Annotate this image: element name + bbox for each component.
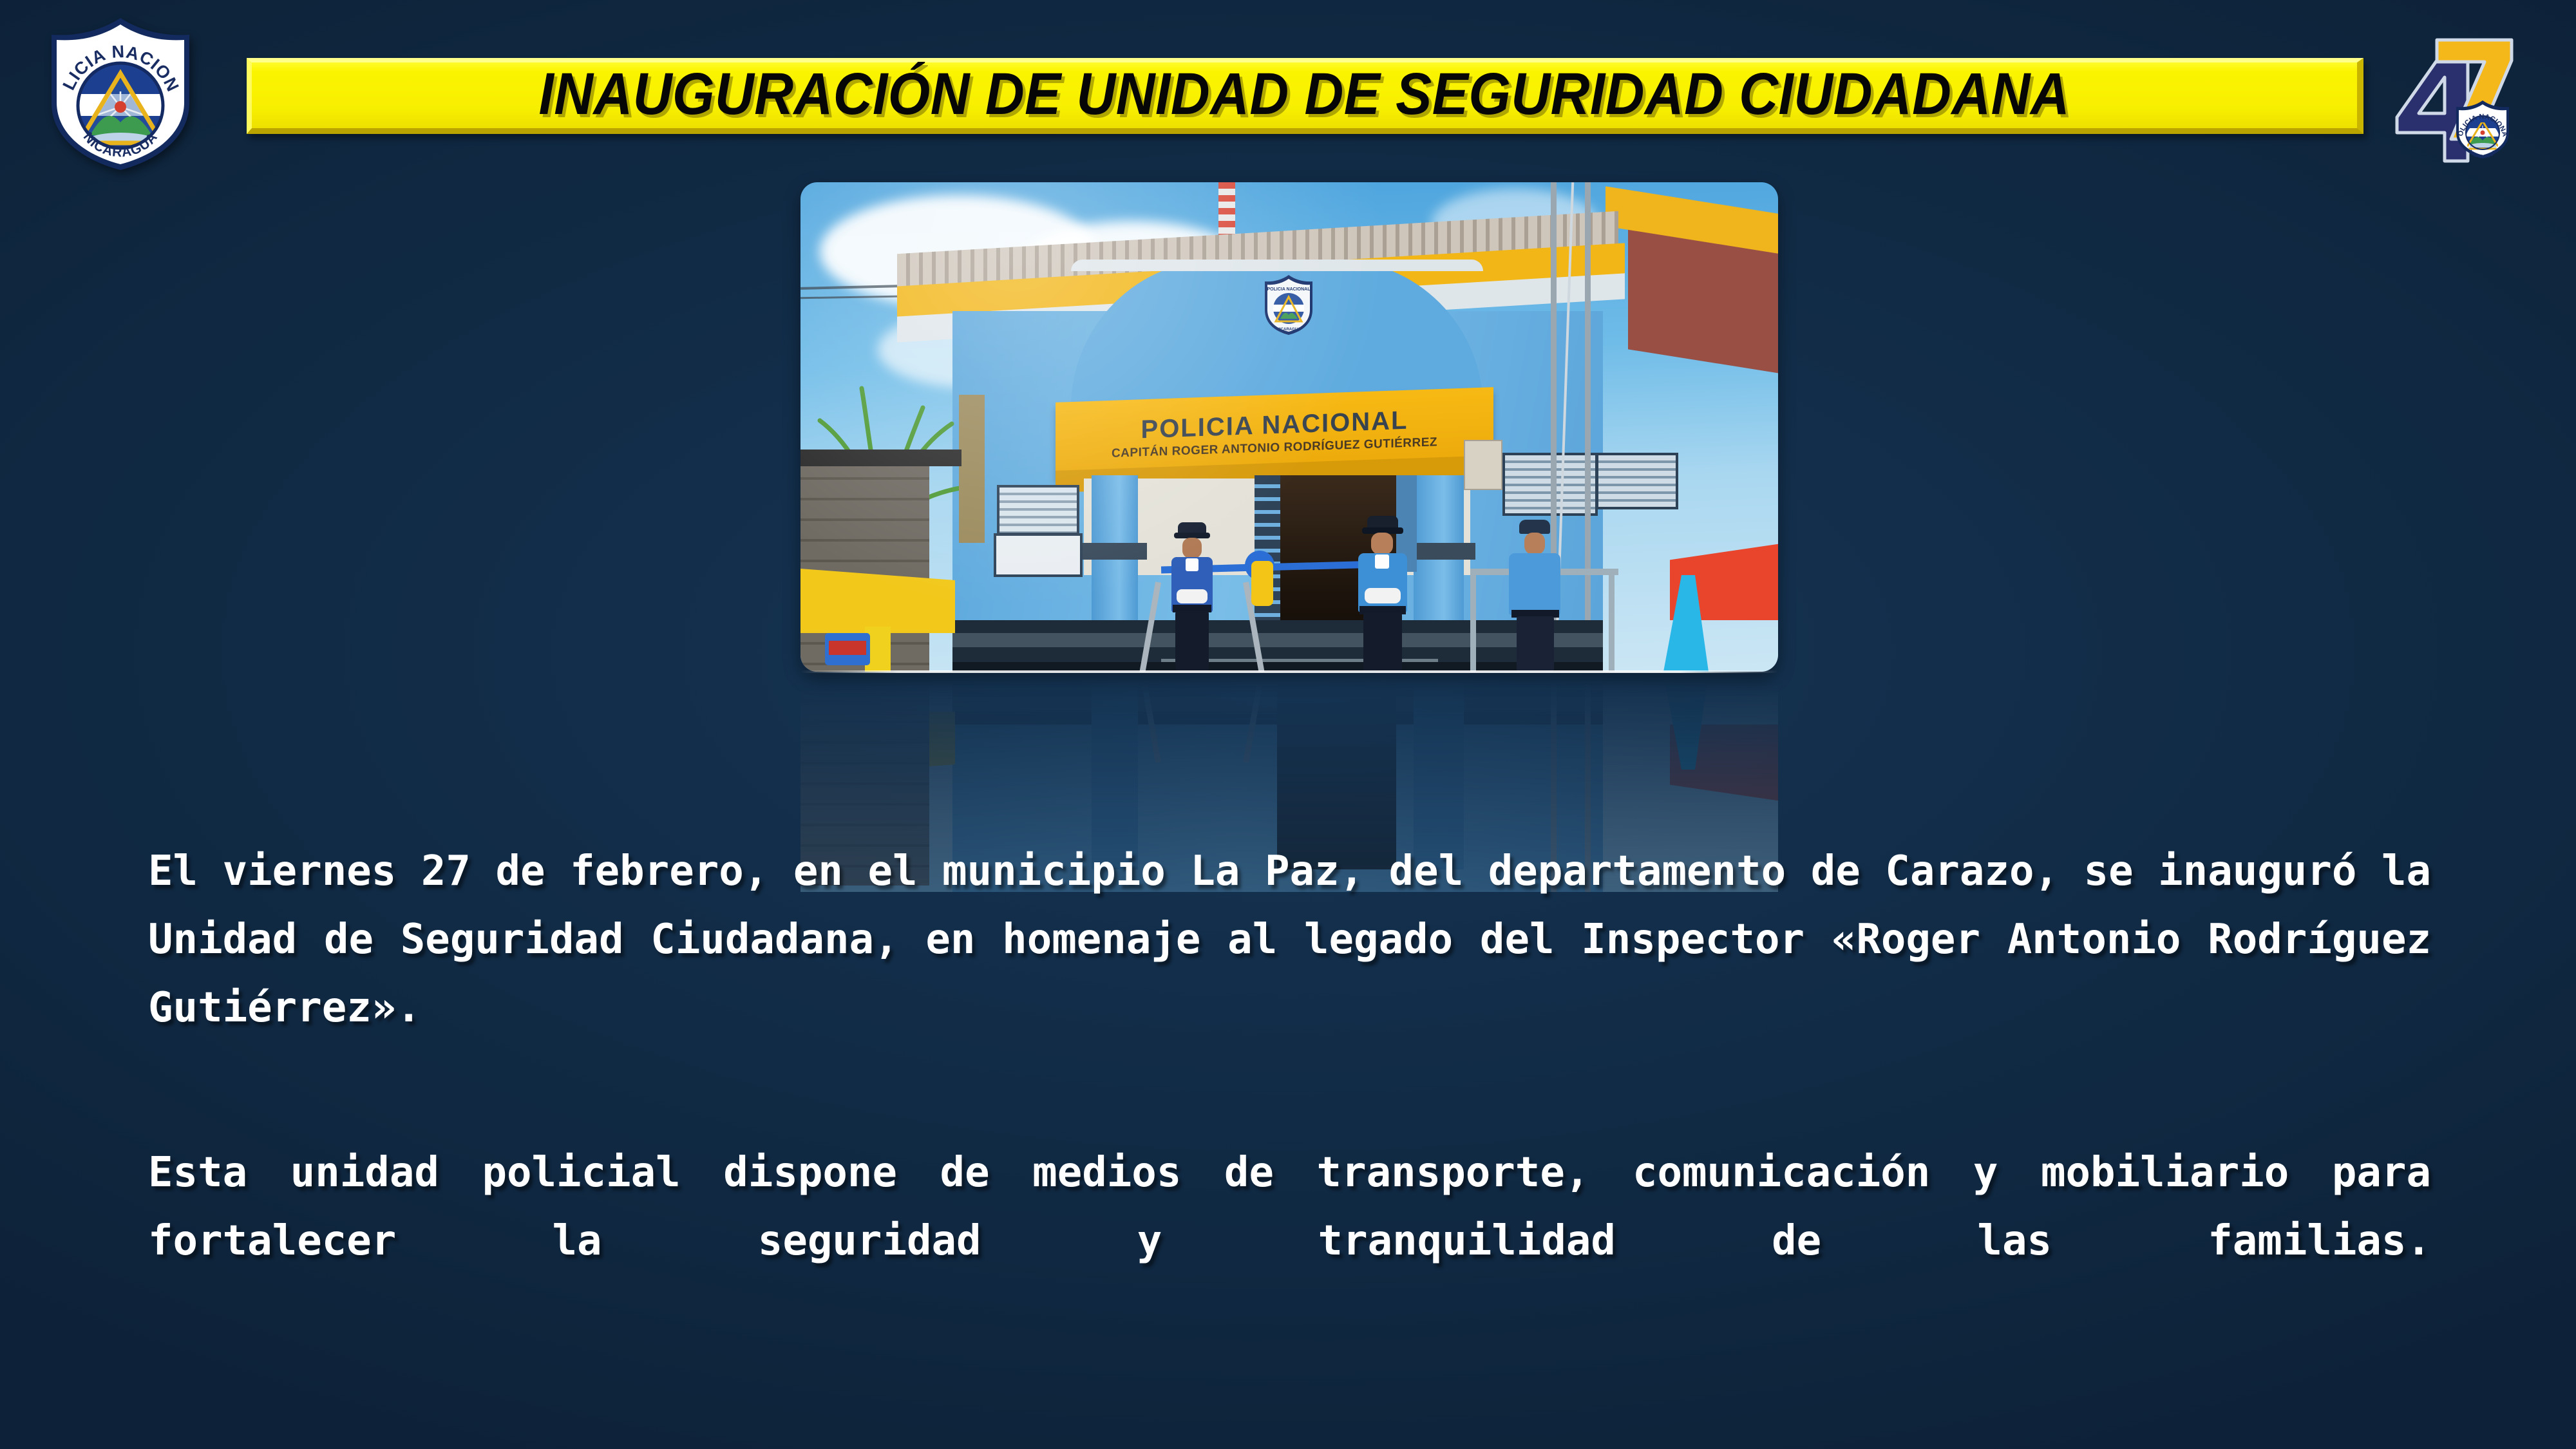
photo-frame: POLICIA NACIONAL NICARAGUA POLICIA NACIO…: [800, 182, 1778, 672]
slide-canvas: POLICIA NACIONAL NICARAGUA INAUGURACIÓN …: [0, 0, 2576, 1449]
page-title: INAUGURACIÓN DE UNIDAD DE SEGURIDAD CIUD…: [539, 64, 2070, 124]
policia-nacional-shield-icon: POLICIA NACIONAL NICARAGUA: [40, 9, 201, 175]
body-text-block: El viernes 27 de febrero, en el municipi…: [148, 837, 2431, 1343]
inauguration-photo: POLICIA NACIONAL NICARAGUA POLICIA NACIO…: [800, 182, 1778, 672]
title-banner: INAUGURACIÓN DE UNIDAD DE SEGURIDAD CIUD…: [247, 58, 2363, 134]
photo-reflection-line: [800, 670, 1778, 673]
anniversary-47-logo: POLICIA NACIONAL NICARAGUA: [2387, 6, 2554, 167]
paragraph-2: Esta unidad policial dispone de medios d…: [148, 1139, 2431, 1343]
slide-header: POLICIA NACIONAL NICARAGUA INAUGURACIÓN …: [0, 0, 2576, 167]
paragraph-1: El viernes 27 de febrero, en el municipi…: [148, 837, 2431, 1110]
